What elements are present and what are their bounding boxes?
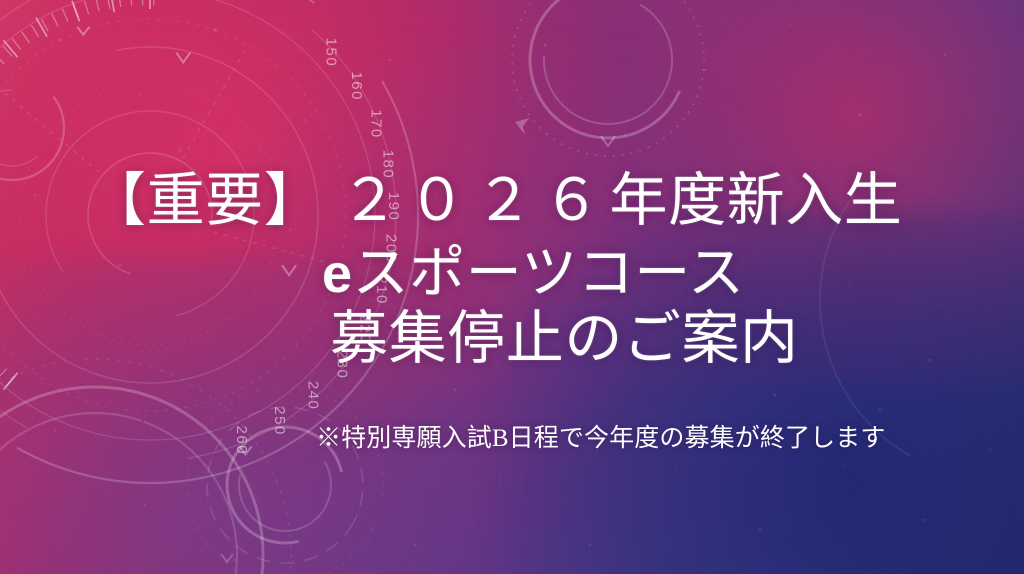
headline-line-2: eスポーツコース bbox=[322, 246, 745, 302]
esports-e-glyph: e bbox=[322, 244, 353, 304]
bracket-close: 】 bbox=[264, 166, 323, 234]
important-label: 重要 bbox=[147, 168, 264, 233]
esports-course-label: スポーツコース bbox=[353, 241, 745, 306]
headline-line-1-tail: 年度新入生 bbox=[609, 168, 902, 233]
headline-line-3: 募集停止のご案内 bbox=[330, 310, 799, 368]
bracket-open: 【 bbox=[88, 166, 147, 234]
year-number: ２０２６ bbox=[340, 166, 609, 234]
headline-block: 【重要】２０２６年度新入生 eスポーツコース 募集停止のご案内 ※特別専願入試B… bbox=[0, 0, 1024, 574]
poster-canvas: 150 160 170 180 190 200 210 bbox=[0, 0, 1024, 574]
footnote-text: ※特別専願入試B日程で今年度の募集が終了します bbox=[316, 418, 886, 454]
headline-line-1: 【重要】２０２６年度新入生 bbox=[88, 171, 902, 230]
